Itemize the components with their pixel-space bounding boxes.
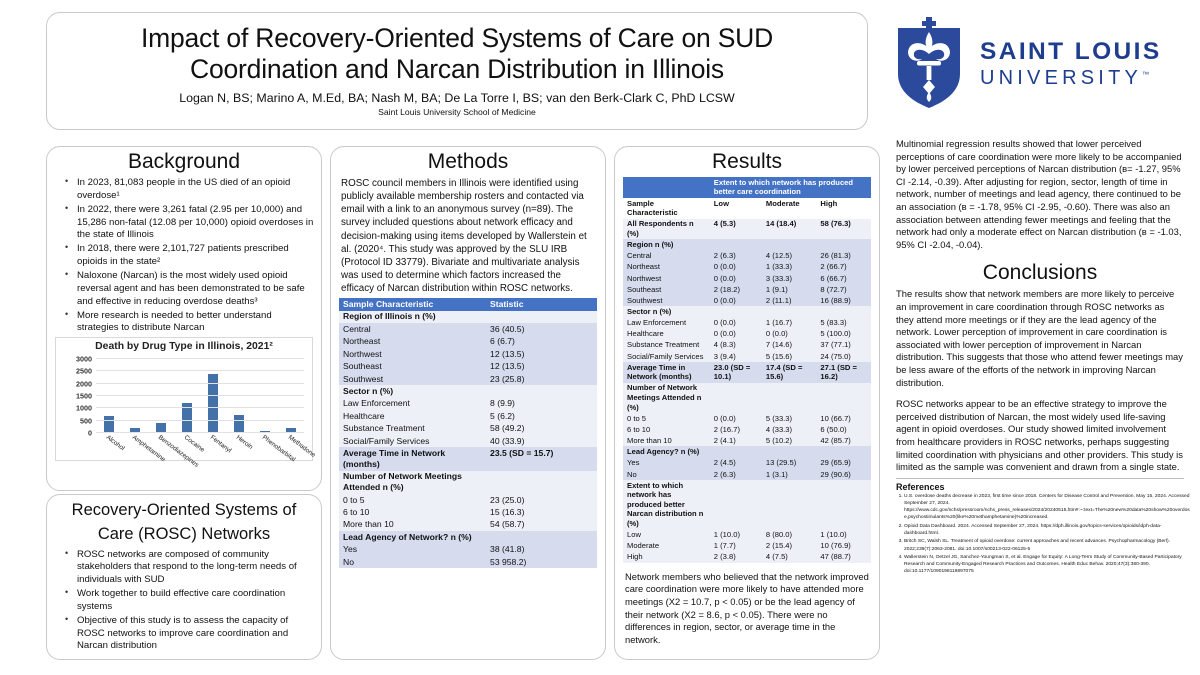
table-row: Number of Network Meetings Attended n (%… (339, 471, 597, 494)
cell-moderate: 7 (14.6) (762, 340, 817, 351)
cell-value: 23.5 (SD = 15.7) (486, 447, 597, 470)
background-heading: Background (47, 150, 321, 173)
results-panel: Results Extent to which network has prod… (614, 146, 880, 660)
table-row: Healthcare5 (6.2) (339, 410, 597, 422)
cell-low: 0 (0.0) (710, 273, 762, 284)
cell-low: 2 (4.1) (710, 435, 762, 446)
list-item: ROSC networks are composed of community … (67, 549, 315, 587)
cell-high: 16 (88.9) (816, 295, 871, 306)
column-header-high: High (816, 198, 871, 219)
chart-y-tick: 1500 (76, 391, 92, 400)
cell-value: 23 (25.0) (486, 494, 597, 506)
cell-high: 6 (66.7) (816, 273, 871, 284)
chart-y-tick: 3000 (76, 354, 92, 363)
divider (896, 478, 1184, 479)
cell-high: 29 (90.6) (816, 469, 871, 480)
column-header-moderate: Moderate (762, 198, 817, 219)
cell-value: 6 (6.7) (486, 335, 597, 347)
chart-bar (156, 423, 167, 432)
cell-high: 5 (83.3) (816, 317, 871, 328)
cell-moderate: 8 (80.0) (762, 529, 817, 540)
table-row: More than 1054 (58.7) (339, 519, 597, 531)
table-row: Northeast0 (0.0)1 (33.3)2 (66.7) (623, 262, 871, 273)
cell-label: 6 to 10 (623, 424, 710, 435)
reference-item: Britch SC, Walsh SL. Treatment of opioid… (904, 538, 1190, 552)
conclusions-heading: Conclusions (890, 261, 1190, 284)
conclusions-paragraph-1: The results show that network members ar… (890, 288, 1190, 389)
cell-high (816, 239, 871, 250)
table-row: Yes38 (41.8) (339, 543, 597, 555)
results-footnote: Network members who believed that the ne… (615, 571, 879, 647)
cell-label: Southwest (623, 295, 710, 306)
cell-moderate: 13 (29.5) (762, 458, 817, 469)
table-row: No53 958.2) (339, 556, 597, 568)
slu-shield-fleur-de-lis-icon (892, 14, 966, 115)
cell-low: 23.0 (SD = 10.1) (710, 362, 762, 383)
cell-low: 2 (4.5) (710, 458, 762, 469)
cell-label: Low (623, 529, 710, 540)
cell-label: Sector n (%) (623, 306, 710, 317)
cell-moderate (762, 306, 817, 317)
cell-moderate (762, 239, 817, 250)
table-row: Lead Agency? n (%) (623, 446, 871, 457)
methods-panel: Methods ROSC council members in Illinois… (330, 146, 606, 660)
list-item: More research is needed to better unders… (67, 310, 315, 335)
list-item: Work together to build effective care co… (67, 588, 315, 613)
cell-label: No (339, 556, 486, 568)
table-row: Northeast6 (6.7) (339, 335, 597, 347)
chart-gridline: 1000 (96, 407, 304, 408)
cell-value: 12 (13.5) (486, 360, 597, 372)
column-header-statistic: Statistic (486, 298, 597, 310)
page-title-line-2: Coordination and Narcan Distribution in … (190, 54, 724, 85)
cell-low: 4 (5.3) (710, 219, 762, 240)
chart-y-tick: 2500 (76, 367, 92, 376)
cell-label: Law Enforcement (339, 398, 486, 410)
cell-label: Sector n (%) (339, 385, 486, 397)
list-item: Objective of this study is to assess the… (67, 615, 315, 653)
cell-low: 2 (18.2) (710, 284, 762, 295)
table-row: All Respondents n (%)4 (5.3)14 (18.4)58 … (623, 219, 871, 240)
cell-label: Substance Treatment (623, 340, 710, 351)
list-item: In 2018, there were 2,101,727 patients p… (67, 243, 315, 268)
reference-item: Wallerstein N, Oetzel JG, Sanchez-Youngm… (904, 554, 1190, 575)
cell-label: All Respondents n (%) (623, 219, 710, 240)
table-row: High2 (3.8)4 (7.5)47 (88.7) (623, 552, 871, 563)
cell-low: 0 (0.0) (710, 329, 762, 340)
cell-label: More than 10 (623, 435, 710, 446)
cell-label: Lead Agency? n (%) (623, 446, 710, 457)
cell-high: 27.1 (SD = 16.2) (816, 362, 871, 383)
cell-label: Extent to which network has produced bet… (623, 480, 710, 529)
cell-moderate: 5 (15.6) (762, 351, 817, 362)
cell-label: Social/Family Services (623, 351, 710, 362)
cell-label: Yes (339, 543, 486, 555)
reference-item: Opioid Data Dashboard. 2024. Accessed Se… (904, 523, 1190, 537)
table-row: More than 102 (4.1)5 (10.2)42 (85.7) (623, 435, 871, 446)
table-row: 6 to 1015 (16.3) (339, 506, 597, 518)
chart-bar (234, 415, 245, 432)
chart-x-tick-label: Methadone (287, 434, 317, 459)
table-row: Southeast2 (18.2)1 (9.1)8 (72.7) (623, 284, 871, 295)
cell-low: 0 (0.0) (710, 413, 762, 424)
cell-moderate: 1 (16.7) (762, 317, 817, 328)
author-list: Logan N, BS; Marino A, M.Ed, BA; Nash M,… (179, 91, 735, 105)
logo-line-university: UNIVERSITY™ (980, 68, 1162, 88)
table-row: Average Time in Network (months)23.5 (SD… (339, 447, 597, 470)
cell-value (486, 471, 597, 494)
page-title-line-1: Impact of Recovery-Oriented Systems of C… (141, 23, 773, 54)
cell-high: 8 (72.7) (816, 284, 871, 295)
reference-item: U.S. overdose deaths decrease in 2023, f… (904, 493, 1190, 521)
references-list: U.S. overdose deaths decrease in 2023, f… (890, 493, 1190, 576)
table-row: 6 to 102 (16.7)4 (33.3)6 (50.0) (623, 424, 871, 435)
rosc-bullets: ROSC networks are composed of community … (47, 549, 321, 653)
cell-moderate: 1 (3.1) (762, 469, 817, 480)
cell-label: Yes (623, 458, 710, 469)
table-row: Southeast12 (13.5) (339, 360, 597, 372)
table-row: Social/Family Services3 (9.4)5 (15.6)24 … (623, 351, 871, 362)
chart-x-slot: Methadone (278, 433, 304, 461)
cell-moderate (762, 383, 817, 413)
cell-label: Number of Network Meetings Attended n (%… (623, 383, 710, 413)
cell-high: 47 (88.7) (816, 552, 871, 563)
table-row: Southwest23 (25.8) (339, 373, 597, 385)
cell-label: Healthcare (339, 410, 486, 422)
cell-low: 0 (0.0) (710, 317, 762, 328)
cell-high: 37 (77.1) (816, 340, 871, 351)
results-span-header: Extent to which network has produced bet… (710, 177, 871, 198)
cell-low: 0 (0.0) (710, 295, 762, 306)
cell-label: 0 to 5 (339, 494, 486, 506)
cell-label: Central (339, 323, 486, 335)
cell-moderate: 4 (33.3) (762, 424, 817, 435)
table-row: Substance Treatment4 (8.3)7 (14.6)37 (77… (623, 340, 871, 351)
methods-heading: Methods (331, 150, 605, 173)
cell-moderate (762, 480, 817, 529)
cell-value: 58 (49.2) (486, 422, 597, 434)
chart-x-slot: Amphetamine (122, 433, 148, 461)
affiliation: Saint Louis University School of Medicin… (378, 107, 536, 117)
poster-root: Impact of Recovery-Oriented Systems of C… (0, 0, 1200, 675)
university-logo: SAINT LOUIS UNIVERSITY™ (880, 8, 1190, 120)
table-row: Average Time in Network (months)23.0 (SD… (623, 362, 871, 383)
table-row: Region n (%) (623, 239, 871, 250)
chart-gridline: 500 (96, 420, 304, 421)
chart-x-slot: Fentanyl (200, 433, 226, 461)
cell-moderate: 2 (15.4) (762, 540, 817, 551)
list-item: Naloxone (Narcan) is the most widely use… (67, 270, 315, 308)
cell-value (486, 311, 597, 323)
logo-line-saint-louis: SAINT LOUIS (980, 40, 1162, 65)
cell-label: Moderate (623, 540, 710, 551)
results-table: Extent to which network has produced bet… (623, 177, 871, 563)
cell-moderate: 1 (9.1) (762, 284, 817, 295)
cell-label: Northeast (339, 335, 486, 347)
cell-value: 23 (25.8) (486, 373, 597, 385)
cell-value: 40 (33.9) (486, 435, 597, 447)
cell-label: Region of Illinois n (%) (339, 311, 486, 323)
background-panel: Background In 2023, 81,083 people in the… (46, 146, 322, 491)
table-header-row: Sample Characteristic Low Moderate High (623, 198, 871, 219)
table-row: Low1 (10.0)8 (80.0)1 (10.0) (623, 529, 871, 540)
column-header-sample-characteristic: Sample Characteristic (339, 298, 486, 310)
cell-low: 1 (7.7) (710, 540, 762, 551)
rosc-heading-line-1: Recovery-Oriented Systems of (47, 501, 321, 521)
title-block: Impact of Recovery-Oriented Systems of C… (46, 12, 868, 130)
cell-moderate: 1 (33.3) (762, 262, 817, 273)
list-item: In 2023, 81,083 people in the US died of… (67, 177, 315, 202)
cell-value: 53 958.2) (486, 556, 597, 568)
cell-low (710, 239, 762, 250)
table-row: 0 to 523 (25.0) (339, 494, 597, 506)
cell-value: 12 (13.5) (486, 348, 597, 360)
cell-label: High (623, 552, 710, 563)
table-row: Lead Agency of Network? n (%) (339, 531, 597, 543)
methods-table: Sample Characteristic Statistic Region o… (339, 298, 597, 568)
cell-value: 5 (6.2) (486, 410, 597, 422)
cell-low: 1 (10.0) (710, 529, 762, 540)
cell-high: 26 (81.3) (816, 250, 871, 261)
table-row: Number of Network Meetings Attended n (%… (623, 383, 871, 413)
methods-paragraph: ROSC council members in Illinois were id… (331, 177, 605, 295)
chart-x-slot: Alcohol (96, 433, 122, 461)
cell-value (486, 531, 597, 543)
cell-low (710, 383, 762, 413)
cell-label: 6 to 10 (339, 506, 486, 518)
table-row: Law Enforcement8 (9.9) (339, 398, 597, 410)
chart-gridline: 2000 (96, 383, 304, 384)
cell-value: 38 (41.8) (486, 543, 597, 555)
table-row: Law Enforcement0 (0.0)1 (16.7)5 (83.3) (623, 317, 871, 328)
cell-label: 0 to 5 (623, 413, 710, 424)
chart-title: Death by Drug Type in Illinois, 2021² (56, 338, 312, 352)
column-header-sample-characteristic: Sample Characteristic (623, 198, 710, 219)
cell-high: 10 (76.9) (816, 540, 871, 551)
cell-value: 15 (16.3) (486, 506, 597, 518)
references-heading: References (890, 482, 1190, 492)
results-corner-cell (623, 177, 710, 198)
cell-label: Social/Family Services (339, 435, 486, 447)
cell-low: 4 (8.3) (710, 340, 762, 351)
cell-high (816, 306, 871, 317)
conclusions-paragraph-2: ROSC networks appear to be an effective … (890, 398, 1190, 474)
cell-label: Northeast (623, 262, 710, 273)
rosc-networks-panel: Recovery-Oriented Systems of Care (ROSC)… (46, 494, 322, 660)
chart-x-axis-labels: AlcoholAmphetamineBenzodiazepinesCocaine… (96, 433, 304, 461)
cell-moderate (762, 446, 817, 457)
cell-high: 1 (10.0) (816, 529, 871, 540)
cell-moderate: 5 (10.2) (762, 435, 817, 446)
cell-low: 0 (0.0) (710, 262, 762, 273)
cell-low: 3 (9.4) (710, 351, 762, 362)
death-by-drug-type-chart: Death by Drug Type in Illinois, 2021² 30… (55, 337, 313, 461)
cell-low: 2 (6.3) (710, 250, 762, 261)
table-row: Northwest12 (13.5) (339, 348, 597, 360)
logo-wordmark: SAINT LOUIS UNIVERSITY™ (980, 40, 1162, 88)
cell-moderate: 2 (11.1) (762, 295, 817, 306)
table-row: Substance Treatment58 (49.2) (339, 422, 597, 434)
cell-label: Northwest (339, 348, 486, 360)
cell-high (816, 383, 871, 413)
cell-high: 6 (50.0) (816, 424, 871, 435)
cell-value (486, 385, 597, 397)
cell-high: 58 (76.3) (816, 219, 871, 240)
cell-moderate: 3 (33.3) (762, 273, 817, 284)
cell-value: 54 (58.7) (486, 519, 597, 531)
table-row: Region of Illinois n (%) (339, 311, 597, 323)
table-header-row: Sample Characteristic Statistic (339, 298, 597, 310)
table-span-header-row: Extent to which network has produced bet… (623, 177, 871, 198)
table-row: Sector n (%) (339, 385, 597, 397)
cell-high: 29 (65.9) (816, 458, 871, 469)
chart-y-tick: 0 (88, 428, 92, 437)
table-row: Social/Family Services40 (33.9) (339, 435, 597, 447)
cell-low (710, 446, 762, 457)
cell-label: Law Enforcement (623, 317, 710, 328)
conclusions-panel: Multinomial regression results showed th… (890, 138, 1190, 666)
rosc-heading-line-2: Care (ROSC) Networks (47, 525, 321, 545)
cell-label: Southwest (339, 373, 486, 385)
cell-value: 36 (40.5) (486, 323, 597, 335)
cell-low: 2 (16.7) (710, 424, 762, 435)
cell-label: Central (623, 250, 710, 261)
chart-x-slot: Cocaine (174, 433, 200, 461)
background-bullets: In 2023, 81,083 people in the US died of… (47, 177, 321, 335)
cell-high: 10 (66.7) (816, 413, 871, 424)
cell-high: 42 (85.7) (816, 435, 871, 446)
table-row: Southwest0 (0.0)2 (11.1)16 (88.9) (623, 295, 871, 306)
table-row: Extent to which network has produced bet… (623, 480, 871, 529)
chart-gridline: 1500 (96, 395, 304, 396)
cell-high: 24 (75.0) (816, 351, 871, 362)
cell-moderate: 4 (12.5) (762, 250, 817, 261)
cell-moderate: 14 (18.4) (762, 219, 817, 240)
cell-high (816, 446, 871, 457)
table-row: Yes2 (4.5)13 (29.5)29 (65.9) (623, 458, 871, 469)
cell-value: 8 (9.9) (486, 398, 597, 410)
cell-label: Southeast (339, 360, 486, 372)
results-heading: Results (615, 150, 879, 173)
chart-gridline: 2500 (96, 370, 304, 371)
chart-gridline: 3000 (96, 358, 304, 359)
table-row: Northwest0 (0.0)3 (33.3)6 (66.7) (623, 273, 871, 284)
cell-high (816, 480, 871, 529)
cell-label: Southeast (623, 284, 710, 295)
cell-label: Northwest (623, 273, 710, 284)
table-row: Central2 (6.3)4 (12.5)26 (81.3) (623, 250, 871, 261)
table-row: Central36 (40.5) (339, 323, 597, 335)
chart-x-slot: Heroin (226, 433, 252, 461)
cell-high: 2 (66.7) (816, 262, 871, 273)
cell-label: More than 10 (339, 519, 486, 531)
cell-low (710, 306, 762, 317)
cell-low (710, 480, 762, 529)
cell-moderate: 4 (7.5) (762, 552, 817, 563)
cell-label: Average Time in Network (months) (623, 362, 710, 383)
cell-label: No (623, 469, 710, 480)
cell-label: Lead Agency of Network? n (%) (339, 531, 486, 543)
cell-label: Average Time in Network (months) (339, 447, 486, 470)
cell-high: 5 (100.0) (816, 329, 871, 340)
table-row: No2 (6.3)1 (3.1)29 (90.6) (623, 469, 871, 480)
chart-x-slot: Phenobarbital (252, 433, 278, 461)
chart-plot-area: 300025002000150010005000 (96, 358, 304, 432)
cell-label: Region n (%) (623, 239, 710, 250)
list-item: In 2022, there were 3,261 fatal (2.95 pe… (67, 204, 315, 242)
cell-moderate: 0 (0.0) (762, 329, 817, 340)
table-row: Moderate1 (7.7)2 (15.4)10 (76.9) (623, 540, 871, 551)
cell-label: Number of Network Meetings Attended n (%… (339, 471, 486, 494)
cell-moderate: 17.4 (SD = 15.6) (762, 362, 817, 383)
cell-label: Healthcare (623, 329, 710, 340)
table-row: 0 to 50 (0.0)5 (33.3)10 (66.7) (623, 413, 871, 424)
cell-label: Substance Treatment (339, 422, 486, 434)
chart-x-slot: Benzodiazepines (148, 433, 174, 461)
column-header-low: Low (710, 198, 762, 219)
table-row: Healthcare0 (0.0)0 (0.0)5 (100.0) (623, 329, 871, 340)
cell-low: 2 (3.8) (710, 552, 762, 563)
cell-low: 2 (6.3) (710, 469, 762, 480)
chart-y-tick: 1000 (76, 404, 92, 413)
table-row: Sector n (%) (623, 306, 871, 317)
chart-y-tick: 2000 (76, 379, 92, 388)
cell-moderate: 5 (33.3) (762, 413, 817, 424)
regression-results-paragraph: Multinomial regression results showed th… (890, 138, 1190, 251)
chart-y-tick: 500 (80, 416, 92, 425)
